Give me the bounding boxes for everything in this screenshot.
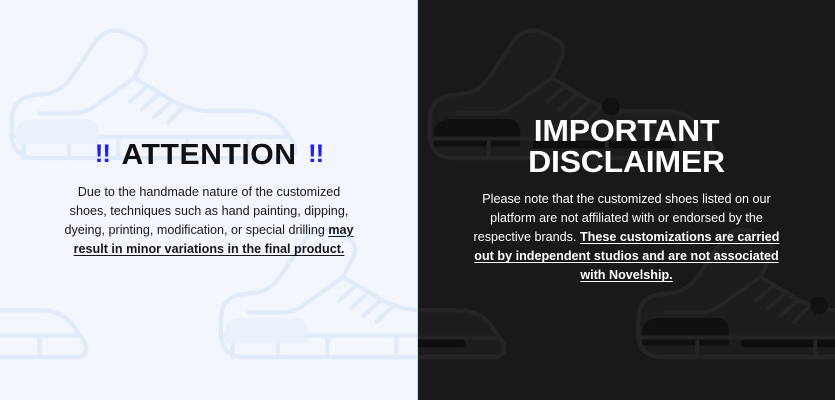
disclaimer-heading-line-1: IMPORTANT: [428, 115, 825, 147]
exclamation-right-icon: !!: [308, 142, 323, 167]
attention-content: !! ATTENTION !! Due to the handmade natu…: [0, 141, 418, 260]
disclaimer-heading: IMPORTANT DISCLAIMER: [428, 115, 825, 178]
promo-banner: !! ATTENTION !! Due to the handmade natu…: [0, 0, 835, 400]
exclamation-left-icon: !!: [95, 142, 110, 167]
attention-body: Due to the handmade nature of the custom…: [61, 183, 357, 260]
disclaimer-panel: IMPORTANT DISCLAIMER Please note that th…: [418, 0, 835, 400]
attention-heading: !! ATTENTION !!: [8, 141, 409, 170]
panel-divider: [417, 0, 418, 400]
attention-heading-text: ATTENTION: [121, 141, 296, 170]
attention-body-normal: Due to the handmade nature of the custom…: [64, 185, 348, 237]
attention-panel: !! ATTENTION !! Due to the handmade natu…: [0, 0, 418, 400]
disclaimer-body: Please note that the customized shoes li…: [471, 190, 783, 286]
disclaimer-heading-line-2: DISCLAIMER: [428, 146, 825, 178]
disclaimer-content: IMPORTANT DISCLAIMER Please note that th…: [418, 115, 835, 286]
